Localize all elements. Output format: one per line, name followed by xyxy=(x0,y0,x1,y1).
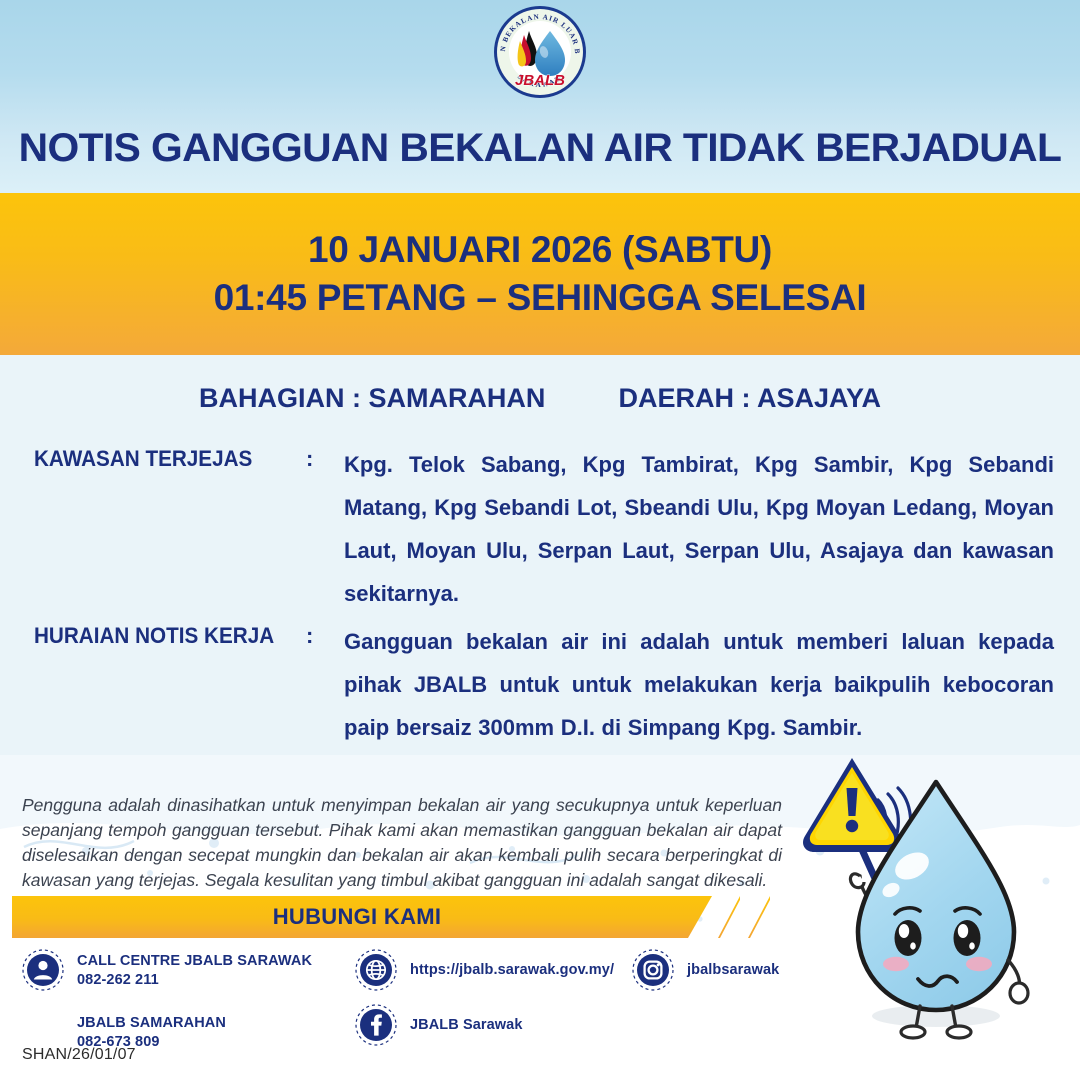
affected-areas-label: KAWASAN TERJEJAS xyxy=(34,443,290,615)
affected-areas-value: Kpg. Telok Sabang, Kpg Tambirat, Kpg Sam… xyxy=(344,443,1054,615)
work-description-colon: : xyxy=(306,620,344,749)
work-description-row: HURAIAN NOTIS KERJA : Gangguan bekalan a… xyxy=(34,620,1054,749)
district-text: DAERAH : ASAJAYA xyxy=(618,383,881,413)
svg-text:JBALB: JBALB xyxy=(515,72,565,89)
advisory-text: Pengguna adalah dinasihatkan untuk menyi… xyxy=(22,793,782,893)
banner-stripe-1 xyxy=(718,896,740,938)
affected-areas-row: KAWASAN TERJEJAS : Kpg. Telok Sabang, Kp… xyxy=(34,443,1054,615)
banner-stripe-2 xyxy=(748,896,770,938)
reference-code: SHAN/26/01/07 xyxy=(22,1046,136,1064)
contact-instagram[interactable]: jbalbsarawak xyxy=(632,949,779,991)
contact-call-centre-number: 082-262 211 xyxy=(77,971,312,990)
notice-body: BAHAGIAN : SAMARAHAN DAERAH : ASAJAYA KA… xyxy=(0,355,1080,755)
affected-areas-colon: : xyxy=(306,443,344,615)
contact-banner-label: HUBUNGI KAMI xyxy=(12,896,702,938)
contact-facebook-name: JBALB Sarawak xyxy=(410,1004,523,1046)
contact-banner: HUBUNGI KAMI xyxy=(12,896,772,938)
contact-website[interactable]: https://jbalb.sarawak.gov.my/ xyxy=(355,949,614,991)
region-line: BAHAGIAN : SAMARAHAN DAERAH : ASAJAYA xyxy=(0,383,1080,414)
division-text: BAHAGIAN : SAMARAHAN xyxy=(199,383,545,413)
instagram-icon xyxy=(632,949,674,991)
logo-icon: JABATAN BEKALAN AIR LUAR BANDAR SARAWAK … xyxy=(492,4,588,100)
jbalb-sarawak-logo: JABATAN BEKALAN AIR LUAR BANDAR SARAWAK … xyxy=(492,4,588,100)
contact-call-centre[interactable]: CALL CENTRE JBALB SARAWAK 082-262 211 xyxy=(22,949,312,991)
contact-facebook[interactable]: JBALB Sarawak xyxy=(355,1004,523,1046)
page-title: NOTIS GANGGUAN BEKALAN AIR TIDAK BERJADU… xyxy=(0,126,1080,171)
work-description-value: Gangguan bekalan air ini adalah untuk me… xyxy=(344,620,1054,749)
work-description-label: HURAIAN NOTIS KERJA xyxy=(34,620,290,749)
contact-website-url: https://jbalb.sarawak.gov.my/ xyxy=(410,949,614,991)
person-icon xyxy=(22,949,64,991)
notice-poster: JABATAN BEKALAN AIR LUAR BANDAR SARAWAK … xyxy=(0,0,1080,1080)
globe-icon xyxy=(355,949,397,991)
contact-samarahan-title: JBALB SAMARAHAN xyxy=(77,1014,226,1033)
facebook-icon xyxy=(355,1004,397,1046)
mascot-illustration xyxy=(786,748,1080,1048)
notice-time: 01:45 PETANG – SEHINGGA SELESAI xyxy=(214,277,867,319)
contact-call-centre-text: CALL CENTRE JBALB SARAWAK 082-262 211 xyxy=(77,949,312,990)
contact-instagram-handle: jbalbsarawak xyxy=(687,949,779,991)
notice-date: 10 JANUARI 2026 (SABTU) xyxy=(308,229,772,271)
header-band: JABATAN BEKALAN AIR LUAR BANDAR SARAWAK … xyxy=(0,0,1080,193)
water-droplet-mascot xyxy=(786,748,1080,1048)
contact-call-centre-title: CALL CENTRE JBALB SARAWAK xyxy=(77,952,312,971)
date-banner: 10 JANUARI 2026 (SABTU) 01:45 PETANG – S… xyxy=(0,193,1080,355)
